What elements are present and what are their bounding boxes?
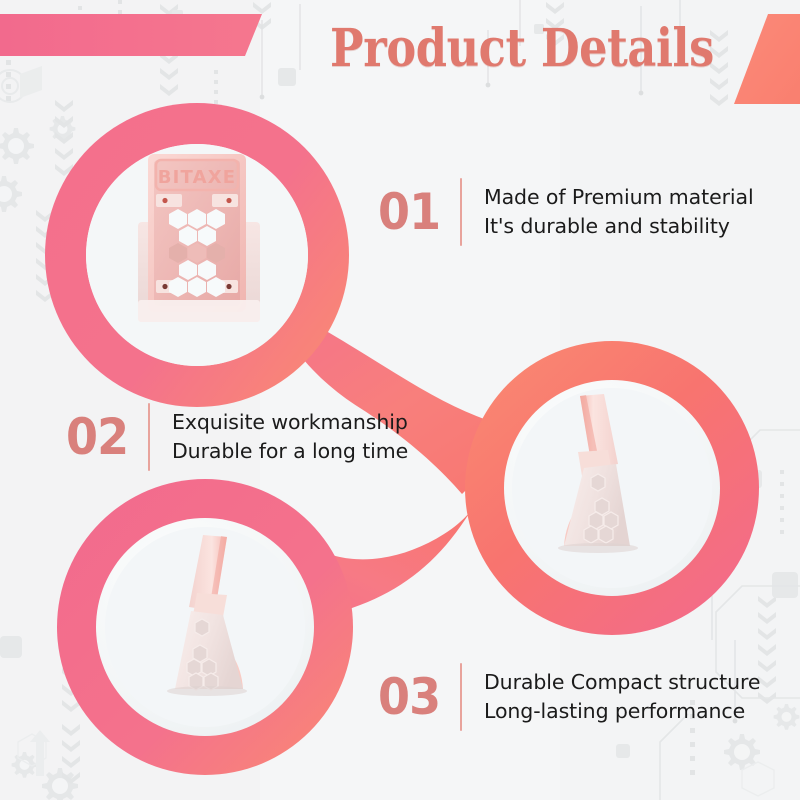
feature-item-02: 02 Exquisite workmanship Durable for a l… [66, 403, 408, 471]
feature-item-03: 03 Durable Compact structure Long-lastin… [378, 663, 760, 731]
feature-line2-02: Durable for a long time [172, 437, 408, 466]
feature-divider-03 [460, 663, 462, 731]
feature-divider-02 [148, 403, 150, 471]
feature-divider-01 [460, 178, 462, 246]
infographic-canvas: BITAXE [0, 0, 800, 800]
feature-text-02: Exquisite workmanship Durable for a long… [172, 408, 408, 466]
hexagon-vent-grid [169, 209, 225, 297]
feature-line2-03: Long-lasting performance [484, 697, 760, 726]
feature-line1-03: Durable Compact structure [484, 668, 760, 697]
feature-number-01: 01 [378, 187, 450, 237]
feature-item-01: 01 Made of Premium material It's durable… [378, 178, 754, 246]
product-image-front: BITAXE [86, 144, 308, 366]
product-image-side-right [512, 388, 712, 588]
feature-number-03: 03 [378, 672, 450, 722]
brand-text: BITAXE [158, 167, 237, 188]
feature-text-01: Made of Premium material It's durable an… [484, 183, 754, 241]
product-image-side-left [105, 527, 305, 727]
feature-line1-02: Exquisite workmanship [172, 408, 408, 437]
feature-line2-01: It's durable and stability [484, 212, 754, 241]
feature-text-03: Durable Compact structure Long-lasting p… [484, 668, 760, 726]
feature-line1-01: Made of Premium material [484, 183, 754, 212]
page-title: Product Details [330, 16, 691, 82]
feature-number-02: 02 [66, 412, 138, 462]
